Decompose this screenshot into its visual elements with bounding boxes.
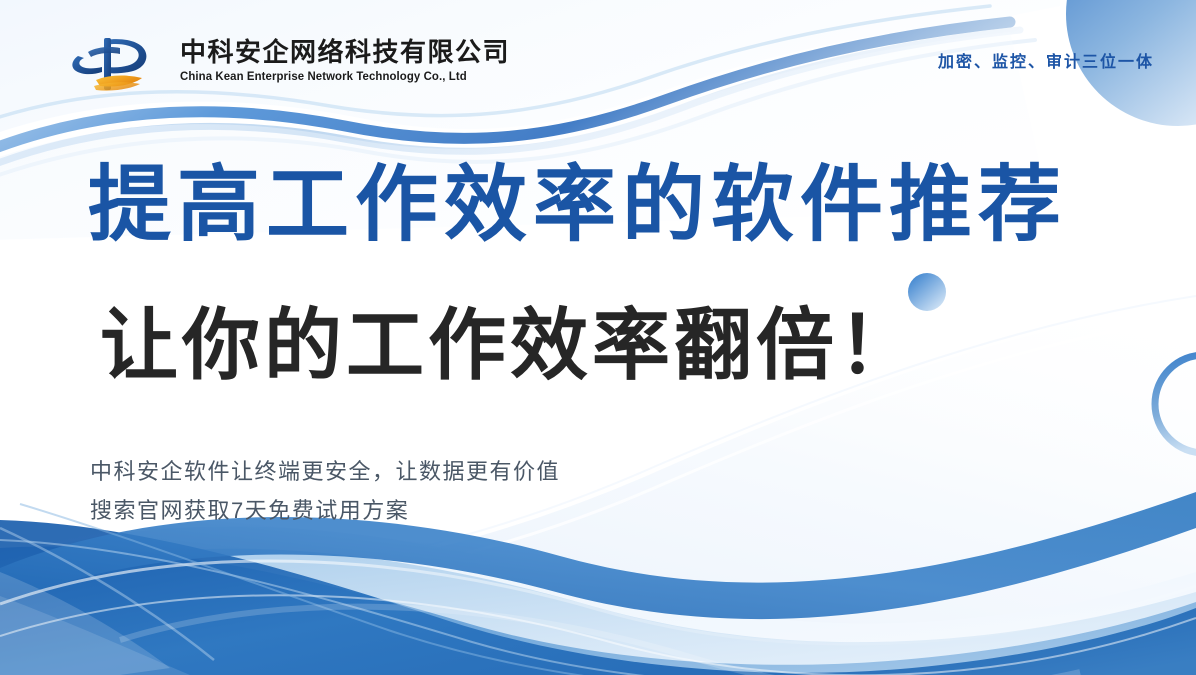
- brand-lockup: 中科安企网络科技有限公司 China Kean Enterprise Netwo…: [66, 34, 510, 96]
- subcopy-line-2: 搜索官网获取7天免费试用方案: [90, 492, 560, 531]
- brand-text-block: 中科安企网络科技有限公司 China Kean Enterprise Netwo…: [180, 34, 510, 84]
- company-logo-mark: [66, 34, 170, 96]
- header-tagline: 加密、监控、审计三位一体: [938, 48, 1154, 72]
- company-name-en: China Kean Enterprise Network Technology…: [180, 70, 507, 84]
- subcopy-block: 中科安企软件让终端更安全，让数据更有价值 搜索官网获取7天免费试用方案: [90, 453, 560, 530]
- headline-primary: 提高工作效率的软件推荐: [88, 163, 1067, 246]
- headline-secondary: 让你的工作效率翻倍！: [100, 306, 920, 384]
- poster-header: 中科安企网络科技有限公司 China Kean Enterprise Netwo…: [0, 0, 1196, 120]
- company-name-cn: 中科安企网络科技有限公司: [180, 38, 510, 67]
- subcopy-line-1: 中科安企软件让终端更安全，让数据更有价值: [90, 453, 560, 492]
- poster-root: 中科安企网络科技有限公司 China Kean Enterprise Netwo…: [0, 0, 1196, 675]
